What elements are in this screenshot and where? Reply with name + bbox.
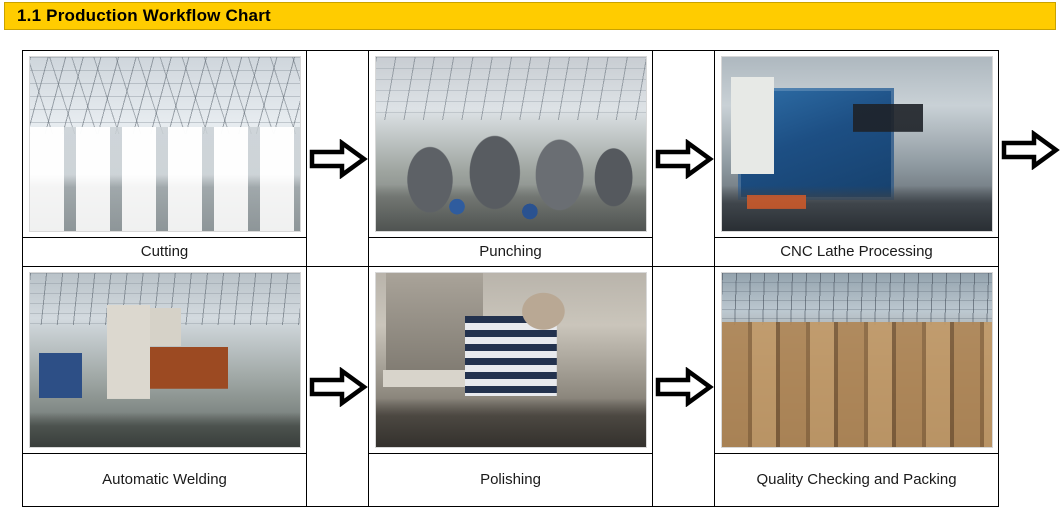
arrow-cell-2	[653, 51, 715, 267]
production-workflow-table: Cutting Punching CNC Lathe Processing	[22, 50, 999, 507]
step-photo-cell-3	[715, 51, 999, 238]
right-block-arrow-icon-trailing	[1000, 130, 1060, 170]
photo-cnc-lathe	[721, 56, 993, 232]
step-photo-cell-1	[23, 51, 307, 238]
step-label-cell-1: Cutting	[23, 238, 307, 267]
arrow-cell-3	[307, 267, 369, 507]
step-photo-cell-6	[715, 267, 999, 454]
step-label-cell-5: Polishing	[369, 454, 653, 507]
photo-quality-packing	[721, 272, 993, 448]
page-title: 1.1 Production Workflow Chart	[5, 6, 271, 26]
arrow-cell-1	[307, 51, 369, 267]
step-label-cell-4: Automatic Welding	[23, 454, 307, 507]
step-label-cell-3: CNC Lathe Processing	[715, 238, 999, 267]
table-row: Cutting Punching CNC Lathe Processing	[23, 238, 999, 267]
step-photo-cell-5	[369, 267, 653, 454]
right-block-arrow-icon	[654, 139, 714, 179]
photo-cutting	[29, 56, 301, 232]
right-block-arrow-icon	[654, 367, 714, 407]
right-block-arrow-icon	[308, 367, 368, 407]
right-block-arrow-icon	[308, 139, 368, 179]
photo-polishing	[375, 272, 647, 448]
step-photo-cell-4	[23, 267, 307, 454]
photo-automatic-welding	[29, 272, 301, 448]
photo-punching	[375, 56, 647, 232]
arrow-cell-4	[653, 267, 715, 507]
step-label-cell-6: Quality Checking and Packing	[715, 454, 999, 507]
step-photo-cell-2	[369, 51, 653, 238]
table-row: Automatic Welding Polishing Quality Chec…	[23, 454, 999, 507]
step-label-cell-2: Punching	[369, 238, 653, 267]
table-row	[23, 267, 999, 454]
table-row	[23, 51, 999, 238]
section-title-bar: 1.1 Production Workflow Chart	[4, 2, 1056, 30]
